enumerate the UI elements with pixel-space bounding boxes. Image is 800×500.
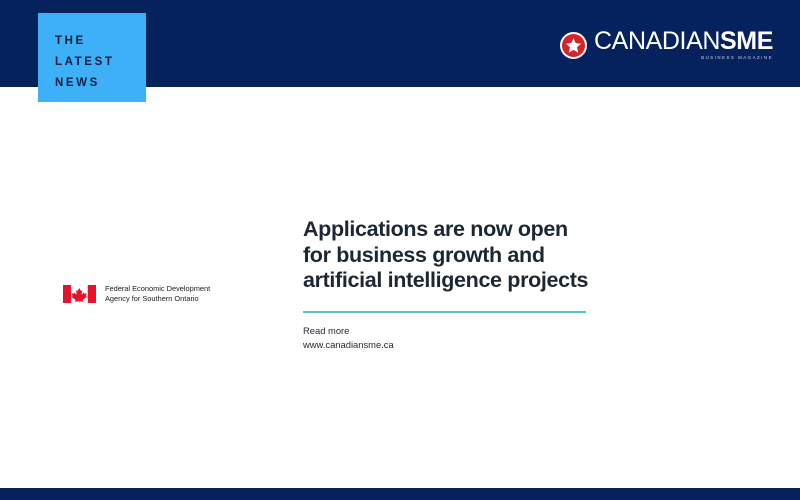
content-block: Applications are now open for business g… — [303, 217, 633, 351]
badge-line-3: NEWS — [55, 73, 146, 94]
headline-line-3: artificial intelligence projects — [303, 268, 633, 294]
brand-wordmark: CANADIANSME — [594, 29, 773, 54]
teal-divider — [303, 311, 586, 314]
read-more-block[interactable]: Read more www.canadiansme.ca — [303, 324, 633, 351]
brand-text-block: CANADIANSME BUSINESS MAGAZINE — [594, 29, 773, 60]
canadian-flag-icon — [63, 285, 96, 303]
read-more-label: Read more — [303, 324, 633, 338]
feddev-ontario-logo: Federal Economic Development Agency for … — [63, 284, 210, 303]
brand-tagline: BUSINESS MAGAZINE — [701, 56, 773, 60]
brand-word-canadian: CANADIAN — [594, 27, 720, 55]
latest-news-badge: THE LATEST NEWS — [38, 13, 146, 102]
headline-line-1: Applications are now open — [303, 217, 633, 243]
canadiansme-logo[interactable]: CANADIANSME BUSINESS MAGAZINE — [560, 29, 773, 61]
brand-word-sme: SME — [720, 27, 773, 55]
website-url[interactable]: www.canadiansme.ca — [303, 338, 633, 352]
feddev-wordmark: Federal Economic Development Agency for … — [105, 284, 210, 303]
footer-band — [0, 488, 800, 500]
news-card-slide: THE LATEST NEWS CANADIANSME BUSINESS MAG… — [0, 0, 800, 500]
badge-line-1: THE — [55, 31, 146, 52]
badge-line-2: LATEST — [55, 52, 146, 73]
star-emblem-icon — [560, 32, 587, 59]
headline-line-2: for business growth and — [303, 243, 633, 269]
feddev-line-1: Federal Economic Development — [105, 284, 210, 294]
headline: Applications are now open for business g… — [303, 217, 633, 294]
feddev-line-2: Agency for Southern Ontario — [105, 294, 210, 304]
